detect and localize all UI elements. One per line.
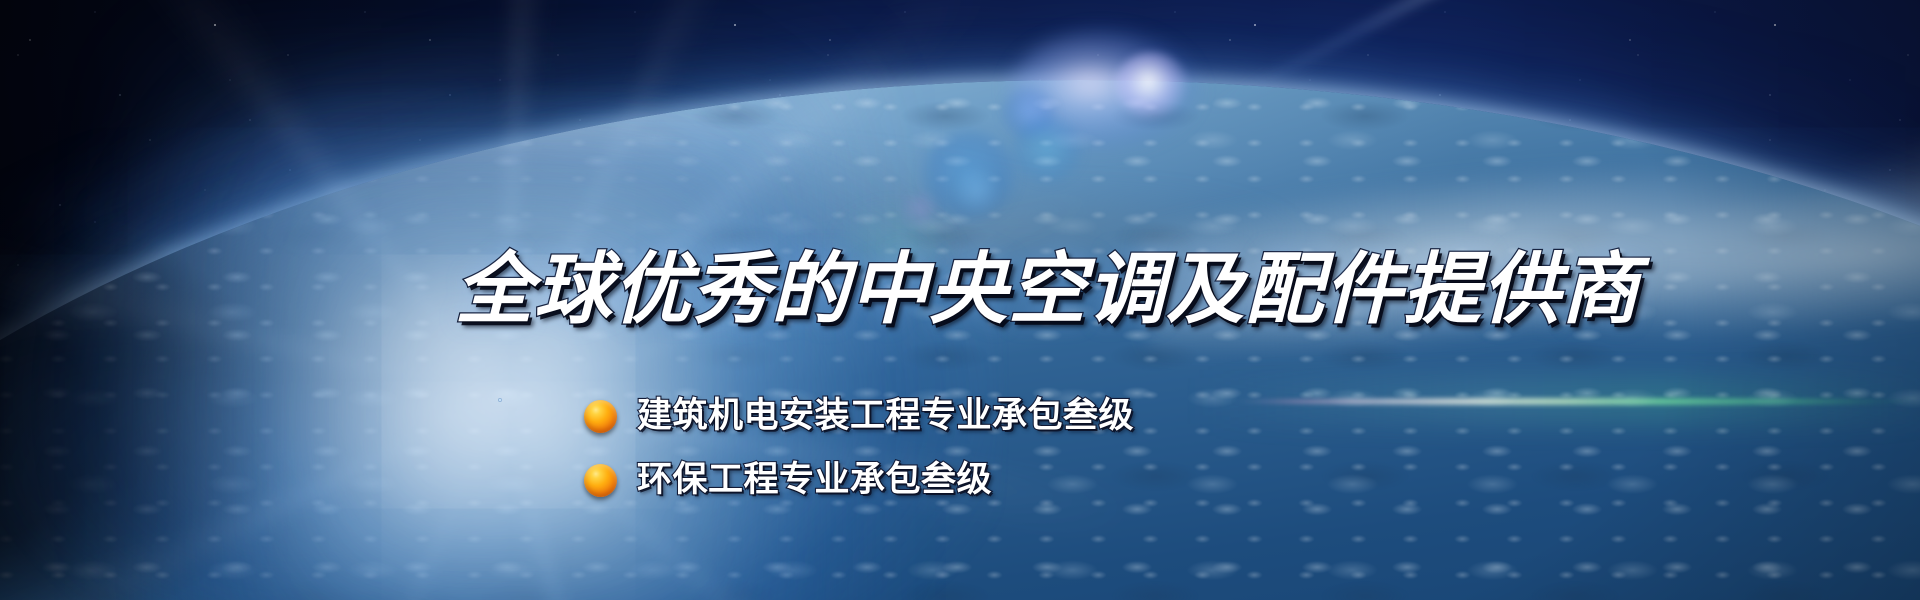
qualification-label: 环保工程专业承包叁级 [637, 460, 992, 500]
orange-dot-bullet-icon [584, 400, 617, 433]
banner-content: 全球优秀的中央空调及配件提供商 建筑机电安装工程专业承包叁级 环保工程专业承包叁… [0, 0, 1920, 600]
qualification-item: 环保工程专业承包叁级 [584, 448, 1134, 512]
qualification-item: 建筑机电安装工程专业承包叁级 [584, 384, 1134, 448]
banner-headline: 全球优秀的中央空调及配件提供商 [455, 248, 1640, 330]
hero-banner: 全球优秀的中央空调及配件提供商 建筑机电安装工程专业承包叁级 环保工程专业承包叁… [0, 0, 1920, 600]
qualification-label: 建筑机电安装工程专业承包叁级 [637, 396, 1134, 436]
qualification-list: 建筑机电安装工程专业承包叁级 环保工程专业承包叁级 [584, 384, 1134, 512]
orange-dot-bullet-icon [584, 464, 617, 497]
